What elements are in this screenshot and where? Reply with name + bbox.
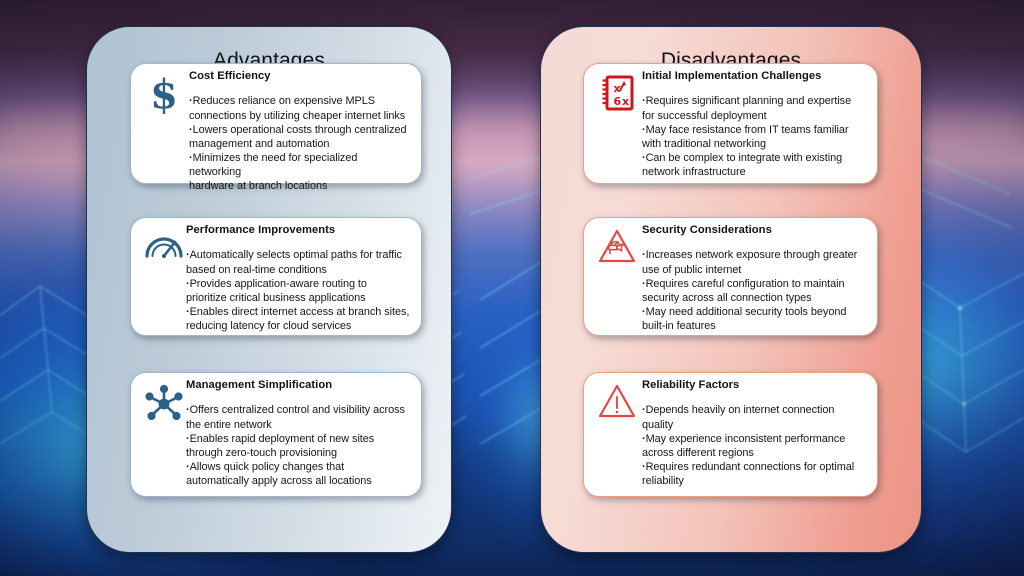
bullet-item: Enables rapid deployment of new sites th… (186, 432, 411, 460)
svg-text:x: x (614, 82, 621, 95)
bullet-item: May face resistance from IT teams famili… (642, 123, 867, 151)
card-cost-efficiency[interactable]: $ Cost Efficiency Reduces reliance on ex… (130, 63, 422, 184)
bullet-item: Requires significant planning and expert… (642, 94, 867, 122)
svg-text:x: x (622, 95, 629, 108)
card-bullet-list: Offers centralized control and visibilit… (186, 403, 411, 488)
card-reliability-factors[interactable]: Reliability Factors Depends heavily on i… (583, 372, 878, 497)
card-title: Cost Efficiency (189, 70, 411, 83)
card-bullet-list: Increases network exposure through great… (642, 248, 867, 333)
card-performance-improvements[interactable]: Performance Improvements Automatically s… (130, 217, 422, 336)
bullet-item: Enables direct internet access at branch… (186, 305, 411, 333)
bullet-item: Provides application-aware routing to pr… (186, 277, 411, 305)
card-title: Reliability Factors (642, 379, 867, 392)
speedometer-icon (142, 228, 186, 272)
bullet-item: May need additional security tools beyon… (642, 305, 867, 333)
bullet-item: Can be complex to integrate with existin… (642, 151, 867, 179)
card-bullet-list: Reduces reliance on expensive MPLS conne… (189, 94, 411, 193)
bullet-item: Reduces reliance on expensive MPLS conne… (189, 94, 411, 122)
bullet-item: Increases network exposure through great… (642, 248, 867, 276)
slide-canvas: Advantages $ Cost Efficiency Reduces rel… (0, 0, 1024, 576)
card-bullet-list: Requires significant planning and expert… (642, 94, 867, 179)
card-title: Initial Implementation Challenges (642, 70, 867, 83)
card-title: Security Considerations (642, 224, 867, 237)
card-bullet-list: Automatically selects optimal paths for … (186, 248, 411, 333)
svg-text:6: 6 (614, 95, 622, 108)
bullet-item: Automatically selects optimal paths for … (186, 248, 411, 276)
bullet-item: Offers centralized control and visibilit… (186, 403, 411, 431)
card-bullet-list: Depends heavily on internet connection q… (642, 403, 867, 488)
warning-triangle-icon (595, 383, 639, 427)
card-security-considerations[interactable]: Security Considerations Increases networ… (583, 217, 878, 336)
card-management-simplification[interactable]: Management Simplification Offers central… (130, 372, 422, 497)
bullet-item: Lowers operational costs through central… (189, 123, 411, 151)
bullet-item: Requires careful configuration to mainta… (642, 277, 867, 305)
bullet-item: Requires redundant connections for optim… (642, 460, 867, 488)
card-initial-implementation-challenges[interactable]: x 6 x Initial Implementation Challenges … (583, 63, 878, 184)
strategy-playbook-icon: x 6 x (595, 74, 639, 118)
svg-text:$: $ (150, 74, 178, 116)
bullet-item: Depends heavily on internet connection q… (642, 403, 867, 431)
bullet-item: Allows quick policy changes that automat… (186, 460, 411, 488)
dollar-sign-icon: $ (142, 74, 186, 118)
card-title: Management Simplification (186, 379, 411, 392)
surveillance-warning-icon (595, 228, 639, 272)
card-title: Performance Improvements (186, 224, 411, 237)
bullet-item: Minimizes the need for specialized netwo… (189, 151, 411, 194)
network-hub-icon (142, 383, 186, 427)
bullet-item: May experience inconsistent performance … (642, 432, 867, 460)
